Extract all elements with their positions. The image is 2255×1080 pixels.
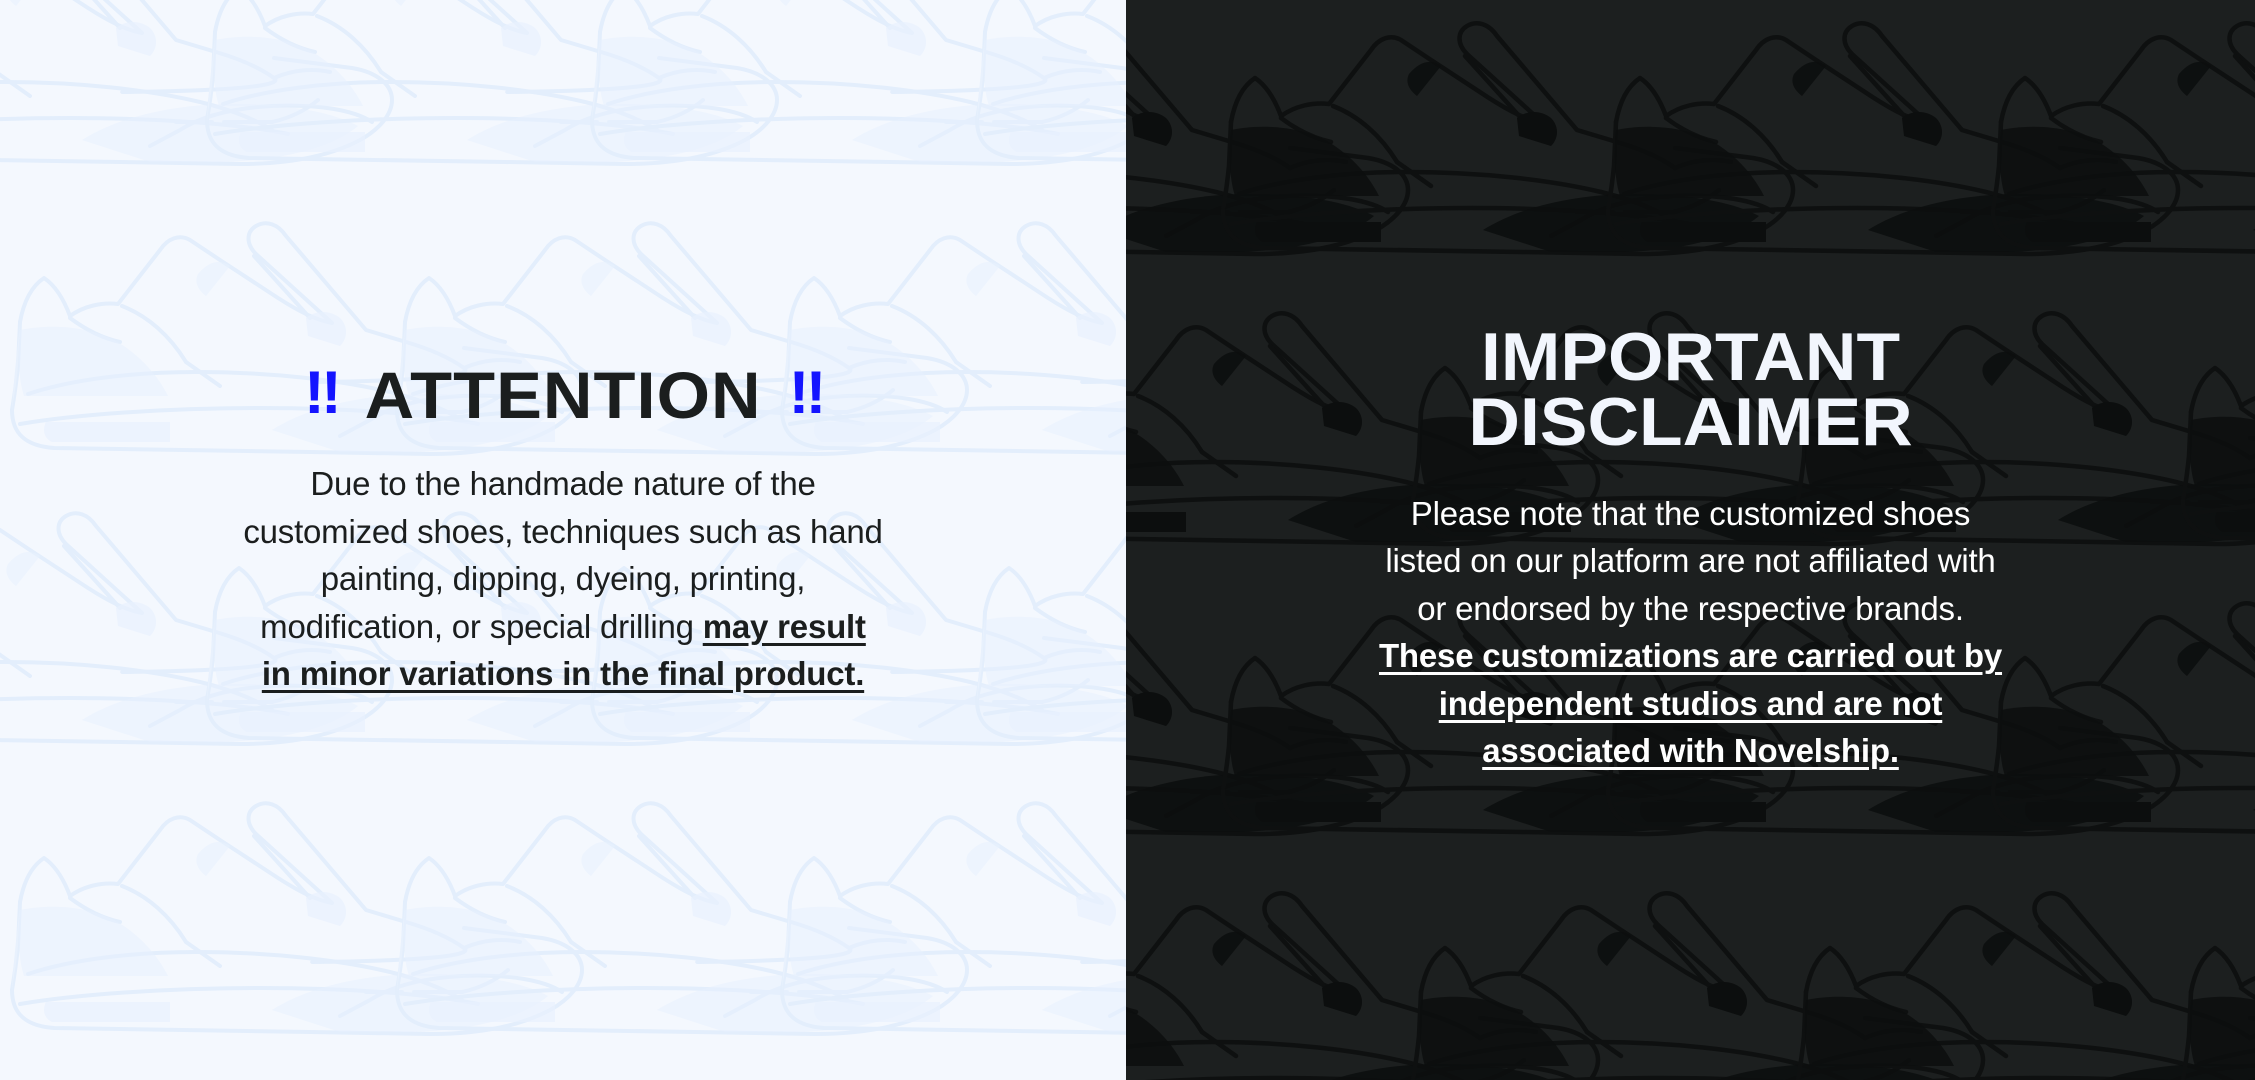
disclaimer-body-normal: Please note that the customized shoes li…	[1385, 495, 1995, 627]
attention-heading-word: ATTENTION	[364, 362, 761, 428]
disclaimer-heading: IMPORTANT DISCLAIMER	[1468, 325, 1912, 456]
disclaimer-panel: IMPORTANT DISCLAIMER Please note that th…	[1126, 0, 2255, 1080]
disclaimer-heading-line-2: DISCLAIMER	[1468, 390, 1912, 455]
double-exclamation-left-icon: ‼	[304, 363, 338, 423]
customization-notice-banner: ‼ ATTENTION ‼ Due to the handmade nature…	[0, 0, 2255, 1080]
disclaimer-content: IMPORTANT DISCLAIMER Please note that th…	[1126, 0, 2255, 775]
attention-panel: ‼ ATTENTION ‼ Due to the handmade nature…	[0, 0, 1126, 1080]
attention-body: Due to the handmade nature of the custom…	[243, 460, 883, 698]
disclaimer-body: Please note that the customized shoes li…	[1371, 490, 2011, 775]
attention-content: ‼ ATTENTION ‼ Due to the handmade nature…	[0, 0, 1126, 698]
attention-heading: ‼ ATTENTION ‼	[304, 362, 822, 428]
double-exclamation-right-icon: ‼	[789, 363, 823, 423]
disclaimer-heading-line-1: IMPORTANT	[1481, 325, 1900, 390]
disclaimer-body-emphasis: These customizations are carried out by …	[1379, 637, 2002, 769]
